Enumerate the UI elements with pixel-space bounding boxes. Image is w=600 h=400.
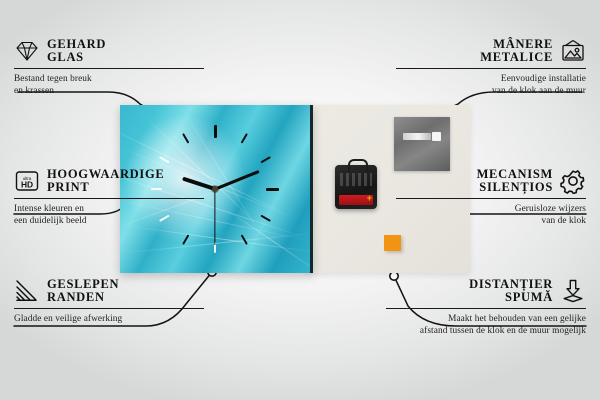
spacer-arrow-icon [560, 278, 586, 304]
mechanism-hanger-loop [348, 159, 368, 172]
divider [14, 68, 204, 69]
svg-text:HD: HD [21, 180, 33, 190]
ultra-hd-icon: ultra HD [14, 168, 40, 194]
feature-title-line-2: GLAS [47, 51, 106, 64]
feature-gehard-glas: GEHARD GLAS Bestand tegen breuk en krass… [14, 38, 204, 98]
clock-center-pin [212, 186, 218, 192]
feature-title-line-2: METALICE [480, 51, 553, 64]
feature-mecanism-silentios: MECANISM SILENȚIOS Geruisloze wijzers va… [396, 168, 586, 228]
diamond-icon [14, 38, 40, 64]
feature-title: GEHARD GLAS [47, 38, 106, 65]
feature-title: MECANISM SILENȚIOS [477, 168, 553, 195]
feature-title-line-1: MECANISM [477, 168, 553, 181]
divider [396, 198, 586, 199]
feature-title-line-1: GEHARD [47, 38, 106, 51]
feature-title-line-1: GESLEPEN [47, 278, 119, 291]
feature-description: Bestand tegen breuk en krassen [14, 73, 204, 99]
clock-mechanism [335, 165, 377, 209]
feature-title-line-1: MÂNERE [493, 38, 553, 51]
feature-distantier-spuma: DISTANȚIER SPUMĂ Maakt het behouden van … [386, 278, 586, 338]
feature-title-line-2: RANDEN [47, 291, 119, 304]
feature-manere-metalice: MÂNERE METALICE Eenvoudige installatie v… [396, 38, 586, 98]
feature-title-line-2: SILENȚIOS [479, 181, 553, 194]
feature-description: Gladde en veilige afwerking [14, 313, 204, 326]
feature-description: Geruisloze wijzers van de klok [396, 203, 586, 229]
feature-description: Intense kleuren en een duidelijk beeld [14, 203, 204, 229]
divider [386, 308, 586, 309]
feature-title-line-2: SPUMĂ [505, 291, 553, 304]
divider [396, 68, 586, 69]
feature-title-line-1: DISTANȚIER [469, 278, 553, 291]
feature-description: Eenvoudige installatie van de klok aan d… [396, 73, 586, 99]
feature-title: HOOGWAARDIGE PRINT [47, 168, 164, 195]
divider [14, 308, 204, 309]
metal-hanger-plate [394, 117, 450, 171]
wall-hanging-icon [560, 38, 586, 64]
battery [339, 195, 373, 205]
feature-title-line-2: PRINT [47, 181, 164, 194]
foam-spacer [384, 235, 401, 251]
feature-geslepen-randen: GESLEPEN RANDEN Gladde en veilige afwerk… [14, 278, 204, 325]
feature-title: GESLEPEN RANDEN [47, 278, 119, 305]
divider [14, 198, 204, 199]
gear-icon [560, 168, 586, 194]
feature-title: DISTANȚIER SPUMĂ [469, 278, 553, 305]
beveled-edges-icon [14, 278, 40, 304]
feature-title-line-1: HOOGWAARDIGE [47, 168, 164, 181]
infographic-canvas: GEHARD GLAS Bestand tegen breuk en krass… [0, 0, 600, 400]
feature-title: MÂNERE METALICE [480, 38, 553, 65]
feature-description: Maakt het behouden van een gelijke afsta… [386, 313, 586, 339]
feature-hoogwaardige-print: ultra HD HOOGWAARDIGE PRINT Intense kleu… [14, 168, 204, 228]
mechanism-label [340, 173, 372, 186]
